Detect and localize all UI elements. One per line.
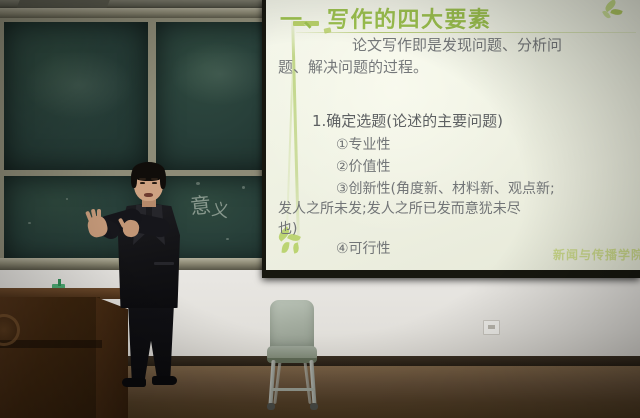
slide-subitem-1: ①专业性 — [336, 134, 391, 154]
lecturer-hair-side — [131, 170, 137, 188]
lecturer-legs — [126, 303, 176, 385]
board-glare — [24, 50, 134, 120]
chair-foot — [310, 403, 318, 410]
slide-paragraph-line-2: 题、解决问题的过程。 — [278, 56, 428, 77]
lecturer-mouth — [144, 193, 153, 197]
wall-socket-icon — [483, 320, 500, 335]
lecturer-shoe-right — [152, 376, 177, 385]
slide-title: 一、写作的四大要素 — [280, 2, 492, 34]
chalk-dust — [226, 238, 229, 240]
lecturer-eye-left — [140, 182, 145, 184]
slide-watermark: 新闻与传播学院 — [553, 246, 640, 263]
lecturer-shoe-left — [122, 378, 146, 387]
lecturer-finger — [97, 209, 101, 221]
slide-subitem-2: ②价值性 — [336, 156, 391, 176]
marker-cap-icon — [58, 279, 61, 286]
slide-subitem-3: ③创新性(角度新、材料新、观点新; — [336, 178, 555, 198]
lecturer-eye-right — [152, 182, 157, 184]
slide-item-1: 1.确定选题(论述的主要问题) — [312, 110, 503, 131]
slide-subitem-4: ④可行性 — [336, 238, 391, 258]
slide-continuation-line-1: 发人之所未发;发人之所已发而意犹未尽 — [278, 198, 521, 218]
chair-rail — [271, 388, 315, 391]
slide-content: 一、写作的四大要素 论文写作即是发现问题、分析问 题、解决问题的过程。 1.确定… — [266, 0, 640, 270]
classroom-chair — [258, 300, 328, 412]
chalk-dust — [66, 198, 68, 200]
projection-screen-frame: 一、写作的四大要素 论文写作即是发现问题、分析问 题、解决问题的过程。 1.确定… — [262, 0, 640, 278]
blackboard-panel-top-left — [4, 22, 148, 170]
chalk-dust — [28, 222, 31, 224]
lecturer-eyebrow-right — [151, 178, 158, 180]
chair-backrest — [270, 300, 314, 352]
lecturer-hair-side — [160, 170, 166, 189]
slide-paragraph-line-1: 论文写作即是发现问题、分析问 — [352, 34, 562, 55]
projection-screen: 一、写作的四大要素 论文写作即是发现问题、分析问 题、解决问题的过程。 1.确定… — [266, 0, 640, 270]
chalk-dust — [242, 186, 245, 189]
slide-continuation-line-2: 也) — [278, 218, 297, 238]
chalk-mark-2: 义 — [210, 195, 230, 222]
lecturer — [92, 158, 210, 388]
lecturer-eyebrow-left — [139, 178, 146, 180]
lecturer-pocket — [154, 262, 174, 265]
lectern-front — [0, 297, 100, 418]
chair-foot — [267, 403, 275, 410]
board-glare — [170, 42, 270, 106]
lecture-hall-photo: 意 义 — [0, 0, 640, 418]
